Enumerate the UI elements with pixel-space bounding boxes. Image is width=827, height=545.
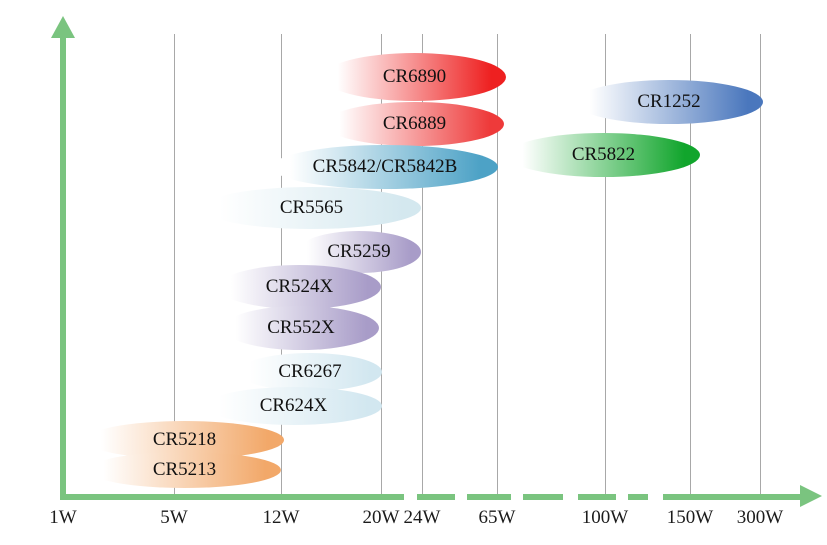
product-bubble-label: CR6890: [383, 66, 446, 88]
tick-label-150W: 150W: [667, 507, 713, 529]
x-axis-arrow-icon: [800, 485, 822, 507]
product-bubble-label: CR1252: [637, 91, 700, 113]
power-range-chart: 1W5W12W20W24W65W100W150W300W CR6890CR688…: [0, 0, 827, 545]
x-axis-segment-4: [578, 494, 616, 500]
tick-label-20W: 20W: [363, 507, 400, 529]
tick-label-300W: 300W: [737, 507, 783, 529]
product-bubble-label: CR5565: [280, 197, 343, 219]
x-axis-segment-1: [417, 494, 455, 500]
product-bubble-CR6267[interactable]: CR6267: [238, 353, 382, 391]
y-axis-line: [60, 30, 66, 500]
product-bubble-label: CR5213: [153, 459, 216, 481]
tick-label-1W: 1W: [49, 507, 76, 529]
gridline-65W: [497, 34, 498, 497]
tick-label-100W: 100W: [582, 507, 628, 529]
x-axis-segment-0: [60, 494, 404, 500]
product-bubble-CR5213[interactable]: CR5213: [88, 452, 281, 488]
product-bubble-label: CR5218: [153, 429, 216, 451]
product-bubble-label: CR524X: [266, 276, 334, 298]
product-bubble-label: CR6889: [383, 113, 446, 135]
product-bubble-label: CR5259: [327, 241, 390, 263]
y-axis-arrow-icon: [51, 16, 75, 38]
product-bubble-CR5565[interactable]: CR5565: [202, 187, 421, 229]
tick-label-12W: 12W: [263, 507, 300, 529]
product-bubble-CR5842[interactable]: CR5842/CR5842B: [272, 145, 498, 189]
product-bubble-CR552X[interactable]: CR552X: [223, 306, 379, 350]
product-bubble-label: CR5822: [572, 144, 635, 166]
x-axis-segment-5: [628, 494, 648, 500]
tick-label-5W: 5W: [160, 507, 187, 529]
product-bubble-label: CR552X: [267, 317, 335, 339]
product-bubble-CR524X[interactable]: CR524X: [218, 265, 381, 309]
tick-label-65W: 65W: [479, 507, 516, 529]
product-bubble-CR1252[interactable]: CR1252: [575, 80, 763, 124]
product-bubble-CR6890[interactable]: CR6890: [323, 53, 506, 101]
product-bubble-label: CR5842/CR5842B: [313, 156, 458, 178]
product-bubble-CR624X[interactable]: CR624X: [205, 387, 382, 425]
x-axis-segment-3: [523, 494, 563, 500]
x-axis-segment-6: [663, 494, 800, 500]
product-bubble-CR5822[interactable]: CR5822: [507, 133, 700, 177]
tick-label-24W: 24W: [404, 507, 441, 529]
product-bubble-label: CR6267: [278, 361, 341, 383]
product-bubble-CR6889[interactable]: CR6889: [325, 102, 504, 146]
x-axis-segment-2: [467, 494, 511, 500]
product-bubble-label: CR624X: [260, 395, 328, 417]
